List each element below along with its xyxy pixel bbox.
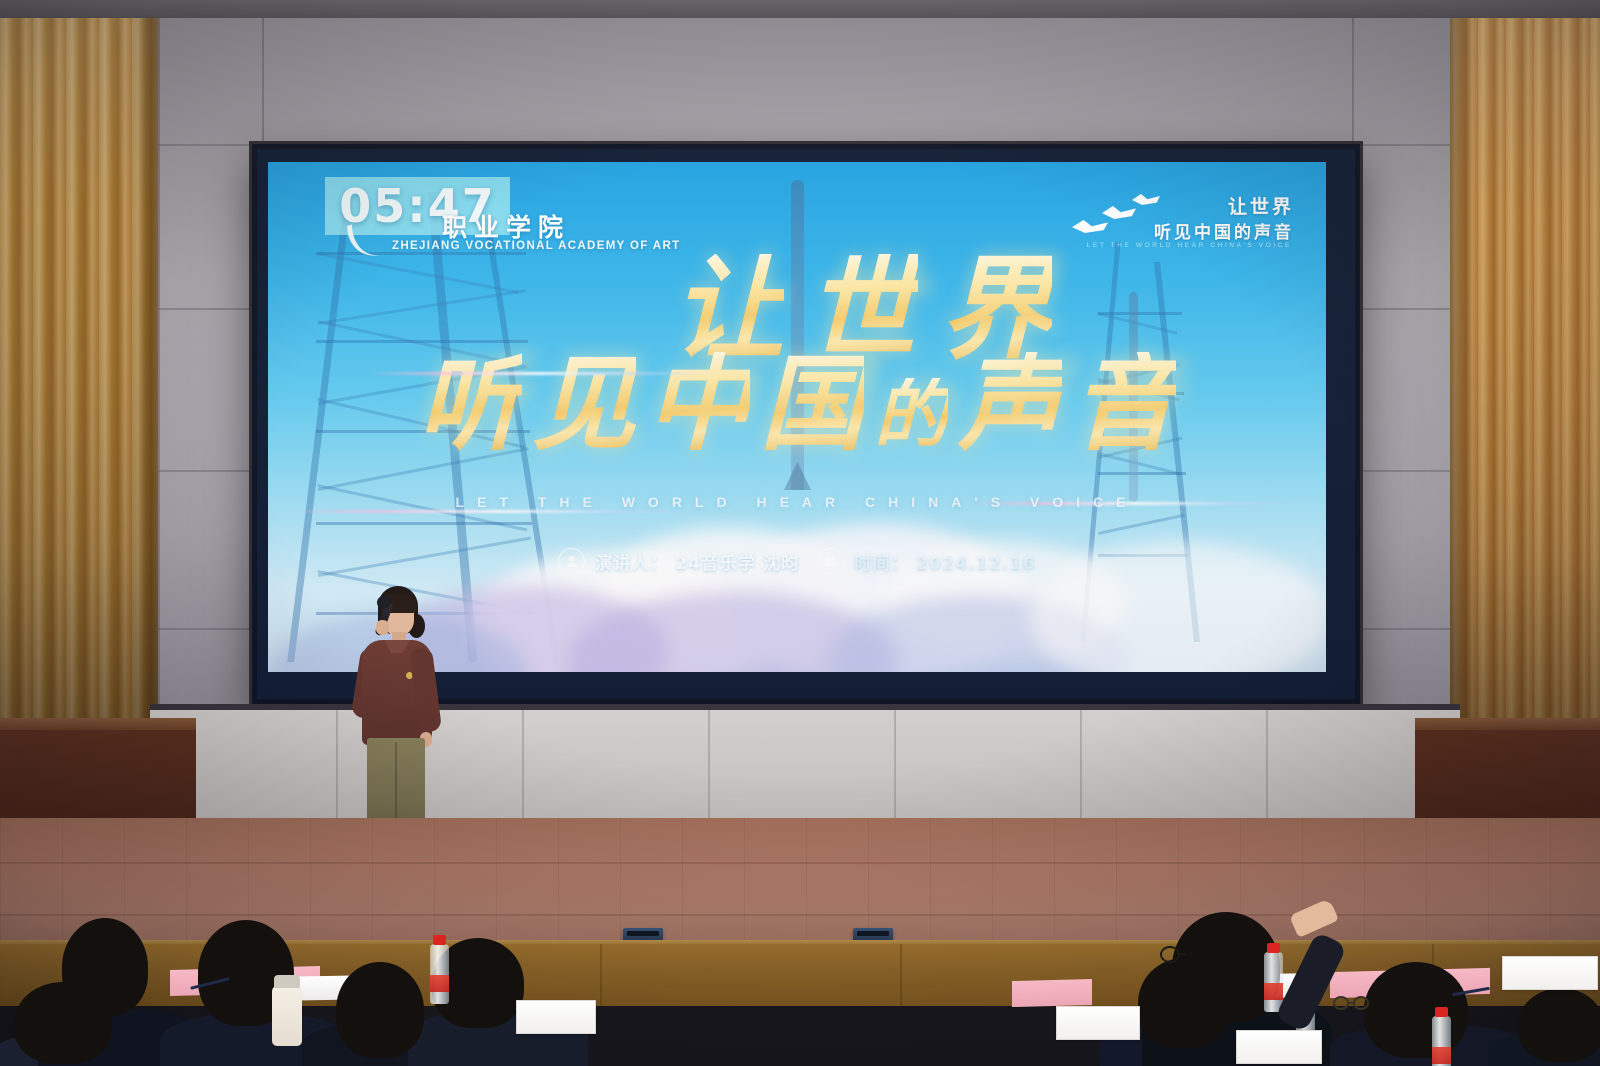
stage-curtain-right bbox=[1450, 18, 1600, 778]
speaker-hand-left bbox=[376, 620, 389, 635]
name-card bbox=[1236, 1030, 1322, 1064]
name-card bbox=[1502, 956, 1598, 990]
stage-side-wood-right bbox=[1415, 718, 1600, 828]
name-card bbox=[1056, 1006, 1140, 1040]
headline-line-2: 听 见 中 国 的 声 音 bbox=[268, 352, 1326, 456]
headline-char: 的 bbox=[874, 378, 948, 452]
speaker-text: 演讲人： 24音乐学 沈昀 bbox=[595, 549, 799, 574]
headline-char: 音 bbox=[1072, 352, 1176, 456]
audience-head bbox=[336, 962, 424, 1058]
audience-head bbox=[1518, 988, 1600, 1062]
headline-char: 中 bbox=[646, 352, 750, 456]
microphone-head bbox=[377, 596, 390, 609]
light-flare bbox=[288, 510, 708, 513]
water-bottle bbox=[430, 944, 449, 1004]
audience-head bbox=[62, 918, 148, 1016]
headline-char: 听 bbox=[418, 352, 522, 456]
date-text: 时间： 2024.12.16 bbox=[854, 549, 1035, 574]
slide-subtitle-en: LET THE WORLD HEAR CHINA'S VOICE bbox=[268, 494, 1326, 510]
lockup-line-1: 让世界 bbox=[1228, 192, 1294, 219]
water-bottle bbox=[1264, 952, 1283, 1012]
thermos-bottle bbox=[272, 986, 302, 1046]
speaker-skirt-seam bbox=[395, 742, 397, 826]
person-icon bbox=[558, 548, 585, 575]
slide-info-bar: 演讲人： 24音乐学 沈昀 时间： 2024.12.16 bbox=[268, 548, 1326, 575]
name-card bbox=[516, 1000, 596, 1034]
academy-name-en: ZHEJIANG VOCATIONAL ACADEMY OF ART bbox=[392, 240, 680, 252]
headline-char: 声 bbox=[958, 352, 1062, 456]
calendar-icon bbox=[817, 548, 844, 575]
stage-apron-panels bbox=[150, 710, 1460, 820]
speaker-info: 演讲人： 24音乐学 沈昀 bbox=[558, 548, 799, 575]
auditorium-scene: 05:47 职业学院 ZHEJIANG VOCATIONAL ACADEMY O… bbox=[0, 0, 1600, 1066]
doves-icon bbox=[1066, 194, 1166, 246]
pink-paper bbox=[1012, 979, 1092, 1007]
lockup-line-3: LET THE WORLD HEAR CHINA'S VOICE bbox=[1087, 242, 1292, 249]
stage-side-wood-left bbox=[0, 718, 196, 828]
slide-headline: 让 世 界 听 见 中 国 的 声 音 bbox=[268, 254, 1326, 456]
water-bottle bbox=[1432, 1016, 1451, 1066]
doves-title-lockup: 让世界 听见中国的声音 LET THE WORLD HEAR CHINA'S V… bbox=[1066, 190, 1296, 260]
headline-char: 国 bbox=[760, 352, 864, 456]
audience-head bbox=[1364, 962, 1468, 1058]
light-flare bbox=[368, 372, 708, 375]
stage-curtain-left bbox=[0, 18, 158, 778]
headline-char: 见 bbox=[532, 352, 636, 456]
date-info: 时间： 2024.12.16 bbox=[817, 548, 1035, 575]
lockup-line-2: 听见中国的声音 bbox=[1154, 218, 1294, 243]
academy-name-cn: 职业学院 bbox=[442, 208, 570, 244]
